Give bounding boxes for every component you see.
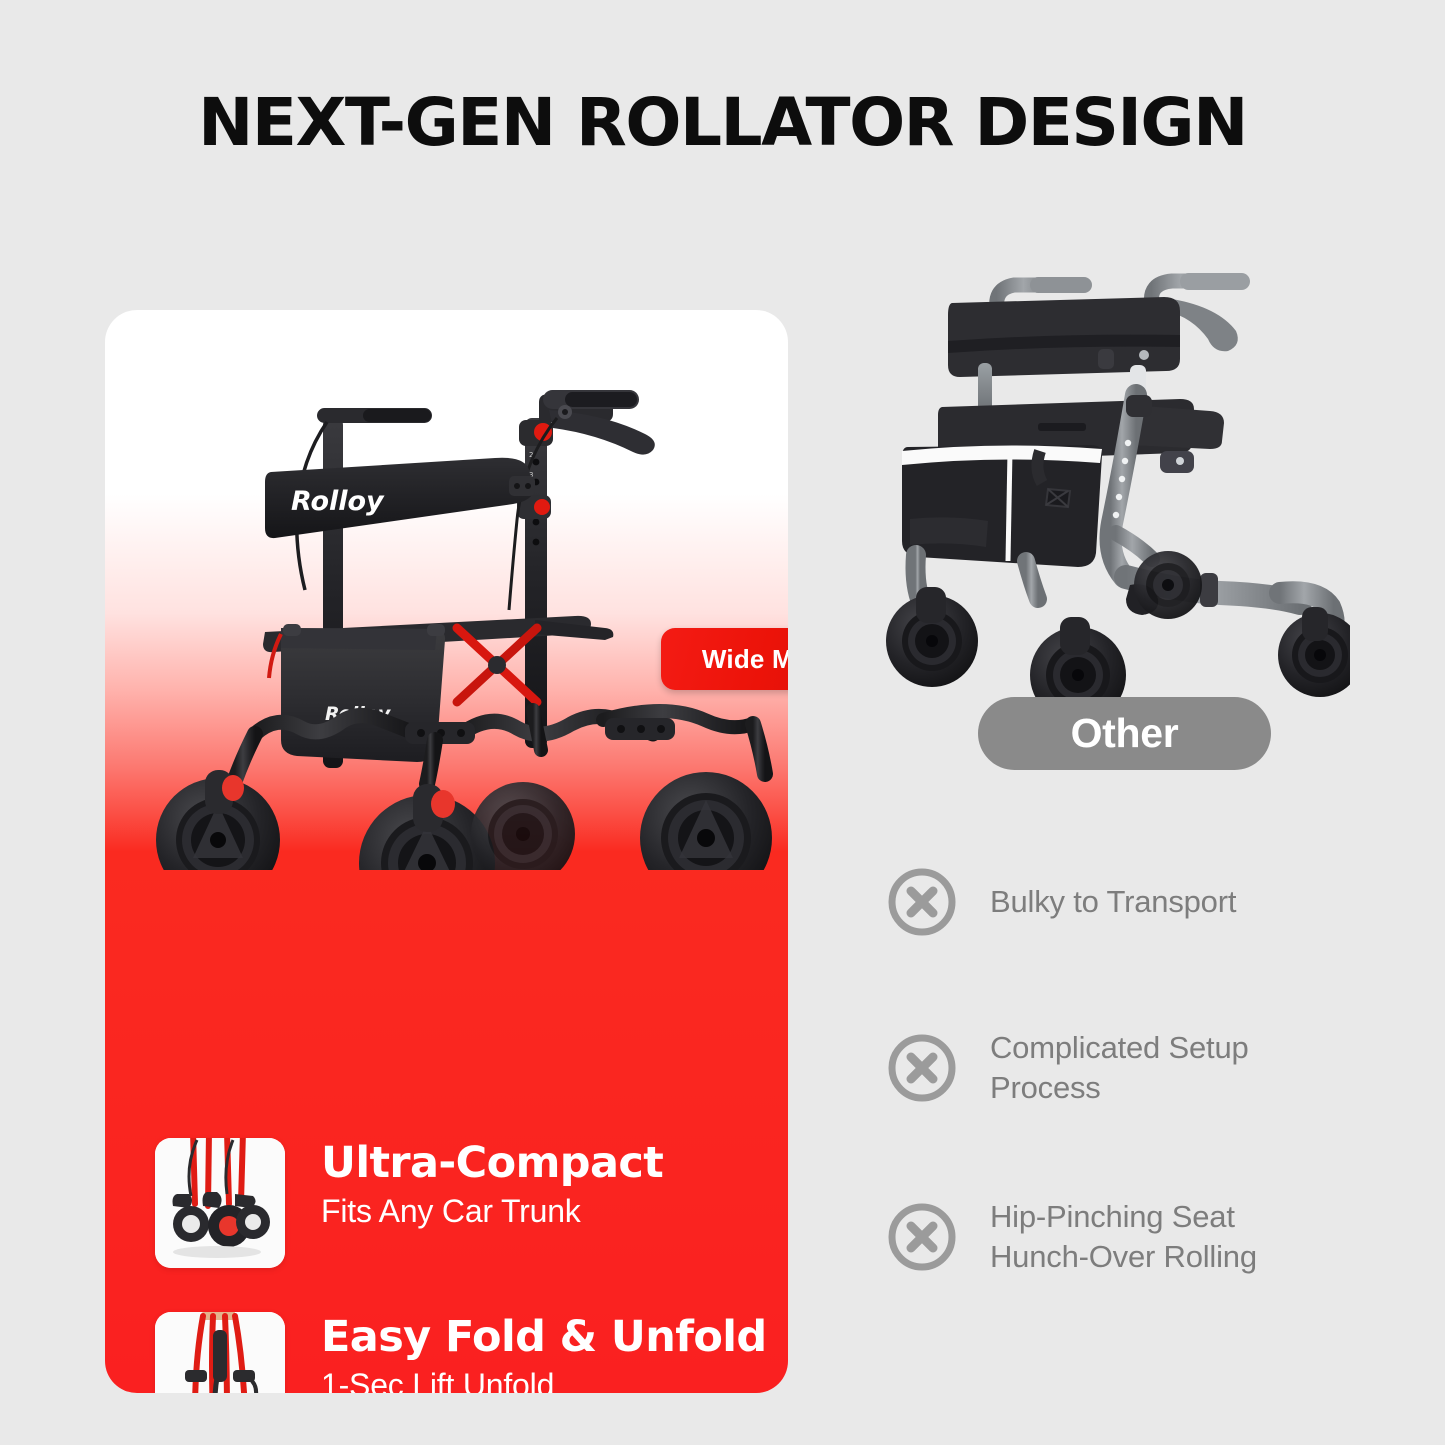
backrest-brand-logo: Rolloy bbox=[291, 486, 385, 517]
con-text: Hip-Pinching Seat Hunch-Over Rolling bbox=[990, 1197, 1257, 1276]
competitor-product-image bbox=[880, 255, 1350, 725]
other-badge: Other bbox=[978, 697, 1271, 770]
wide-model-badge: Wide Model bbox=[661, 628, 788, 690]
feature-title: Easy Fold & Unfold bbox=[321, 1316, 767, 1360]
con-item: Complicated Setup Process bbox=[886, 1028, 1356, 1107]
product-promo-card: 12 34 5 Rolloy bbox=[105, 310, 788, 1393]
wheel-mid-right bbox=[471, 782, 575, 870]
feature-text: Easy Fold & Unfold 1-Sec Lift Unfold 1-S… bbox=[321, 1312, 767, 1393]
con-line: Hip-Pinching Seat bbox=[990, 1197, 1257, 1237]
wide-model-badge-label: Wide Model bbox=[702, 644, 788, 675]
hero-product-image: 12 34 5 Rolloy bbox=[105, 310, 788, 830]
con-line: Process bbox=[990, 1068, 1249, 1108]
x-circle-icon bbox=[886, 1032, 958, 1104]
rolloy-rollator-illustration: 12 34 5 Rolloy bbox=[105, 310, 788, 870]
feature-item: Easy Fold & Unfold 1-Sec Lift Unfold 1-S… bbox=[105, 1312, 788, 1393]
con-line: Complicated Setup bbox=[990, 1028, 1249, 1068]
other-badge-label: Other bbox=[1071, 710, 1179, 757]
wheel-front-right bbox=[640, 772, 772, 870]
folded-rollator-thumb bbox=[155, 1138, 285, 1268]
other-wheel-front-right bbox=[1278, 607, 1350, 697]
other-wheel-rear-left bbox=[886, 587, 978, 687]
feature-subtitle-line: Fits Any Car Trunk bbox=[321, 1192, 663, 1231]
feature-subtitle-line: 1-Sec Lift Unfold bbox=[321, 1366, 767, 1393]
page-title: NEXT-GEN ROLLATOR DESIGN bbox=[0, 84, 1445, 161]
wheel-front-left bbox=[156, 770, 280, 870]
con-line: Hunch-Over Rolling bbox=[990, 1237, 1257, 1277]
feature-text: Ultra-Compact Fits Any Car Trunk bbox=[321, 1138, 663, 1231]
con-line: Bulky to Transport bbox=[990, 882, 1236, 922]
cons-list: Bulky to Transport Complicated Setup Pro… bbox=[886, 866, 1356, 1277]
con-text: Bulky to Transport bbox=[990, 882, 1236, 922]
con-text: Complicated Setup Process bbox=[990, 1028, 1249, 1107]
feature-list: Ultra-Compact Fits Any Car Trunk bbox=[105, 1138, 788, 1393]
other-wheel-mid bbox=[1134, 551, 1202, 619]
other-rollator-illustration bbox=[880, 255, 1350, 725]
feature-title: Ultra-Compact bbox=[321, 1142, 663, 1186]
con-item: Bulky to Transport bbox=[886, 866, 1356, 938]
x-circle-icon bbox=[886, 866, 958, 938]
feature-item: Ultra-Compact Fits Any Car Trunk bbox=[105, 1138, 788, 1268]
x-circle-icon bbox=[886, 1201, 958, 1273]
hand-lifting-folded-rollator-thumb bbox=[155, 1312, 285, 1393]
con-item: Hip-Pinching Seat Hunch-Over Rolling bbox=[886, 1197, 1356, 1276]
